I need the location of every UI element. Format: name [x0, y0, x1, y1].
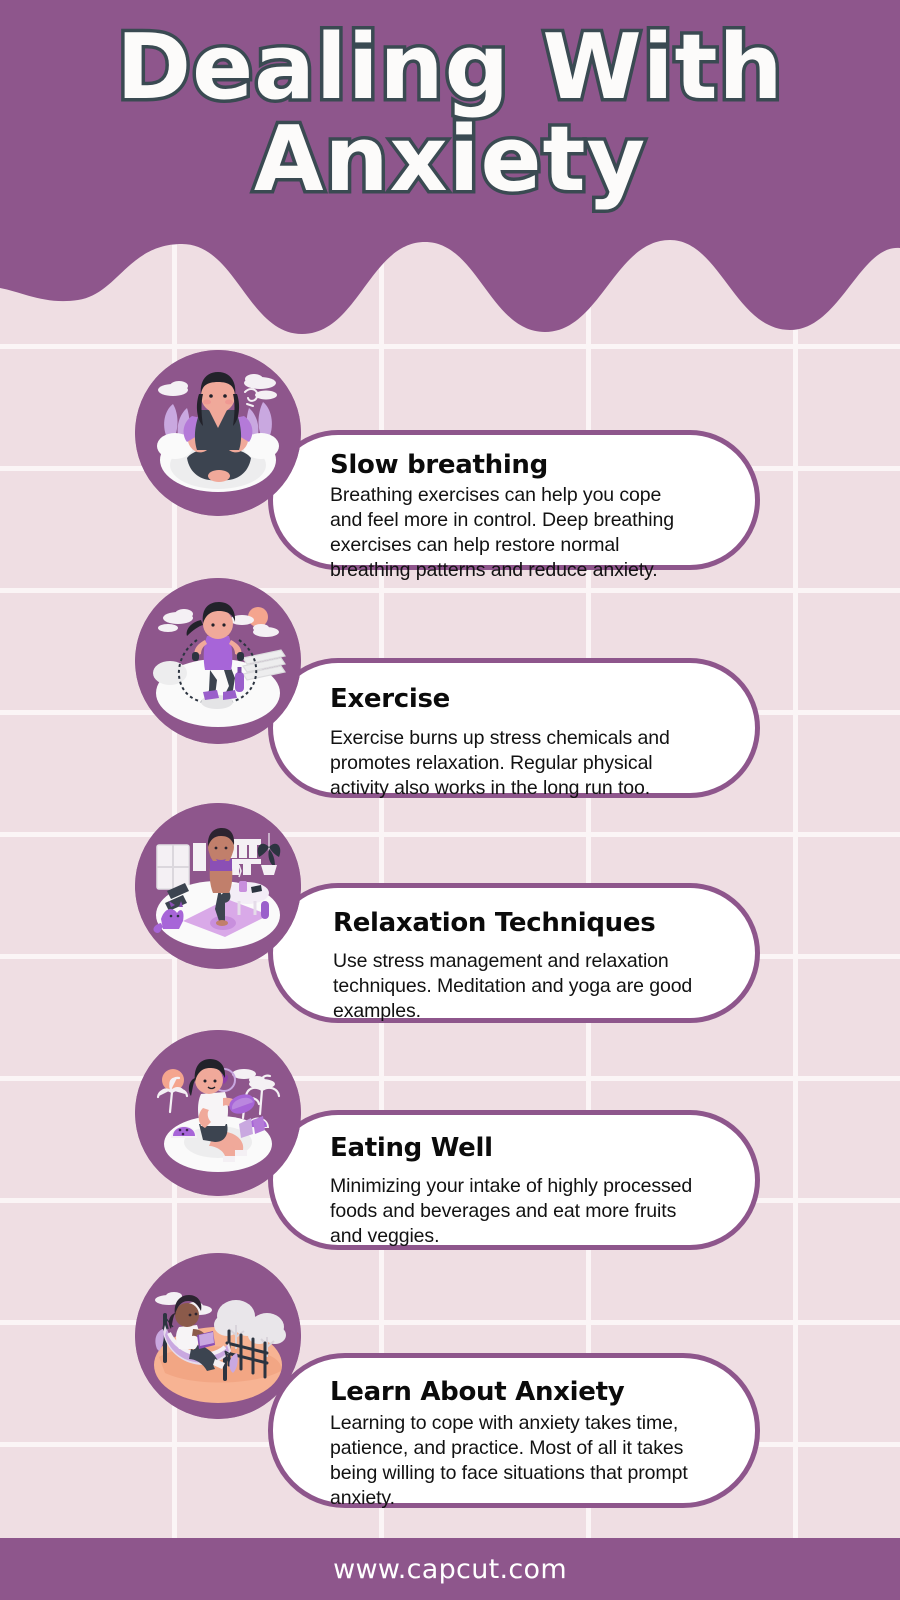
- list-item-card[interactable]: Slow breathing Breathing exercises can h…: [268, 430, 760, 570]
- list-item: Relaxation Techniques Use stress managem…: [0, 803, 900, 1003]
- woman-eating-watermelon-icon: [135, 1030, 301, 1196]
- card-body: Exercise burns up stress chemicals and p…: [330, 726, 702, 801]
- list-item-card[interactable]: Learn About Anxiety Learning to cope wit…: [268, 1353, 760, 1508]
- header-banner: Dealing With Anxiety: [0, 0, 900, 340]
- card-body: Use stress management and relaxation tec…: [333, 949, 705, 1024]
- list-item-card[interactable]: Relaxation Techniques Use stress managem…: [268, 883, 760, 1023]
- card-title: Exercise: [330, 685, 715, 715]
- page-title-line2: Anxiety: [0, 114, 900, 206]
- meditating-woman-icon: [135, 350, 301, 516]
- footer-website-link[interactable]: www.capcut.com: [333, 1554, 567, 1585]
- card-body: Breathing exercises can help you cope an…: [330, 483, 698, 583]
- jump-rope-woman-icon: [135, 578, 301, 744]
- card-title: Learn About Anxiety: [330, 1378, 715, 1408]
- list-item: Slow breathing Breathing exercises can h…: [0, 350, 900, 550]
- infographic-poster: Dealing With Anxiety: [0, 0, 900, 1600]
- page-title-line1: Dealing With: [116, 15, 783, 120]
- list-item: Eating Well Minimizing your intake of hi…: [0, 1030, 900, 1230]
- footer-bar: www.capcut.com: [0, 1538, 900, 1600]
- card-title: Eating Well: [330, 1134, 715, 1164]
- card-body: Learning to cope with anxiety takes time…: [330, 1411, 702, 1511]
- list-item-card[interactable]: Exercise Exercise burns up stress chemic…: [268, 658, 760, 798]
- card-body: Minimizing your intake of highly process…: [330, 1174, 702, 1249]
- yoga-tree-pose-woman-icon: [135, 803, 301, 969]
- list-item: Exercise Exercise burns up stress chemic…: [0, 578, 900, 778]
- page-title: Dealing With Anxiety: [0, 22, 900, 206]
- woman-reading-hammock-icon: [135, 1253, 301, 1419]
- list-item-card[interactable]: Eating Well Minimizing your intake of hi…: [268, 1110, 760, 1250]
- list-item: Learn About Anxiety Learning to cope wit…: [0, 1253, 900, 1453]
- card-title: Relaxation Techniques: [333, 909, 715, 939]
- card-title: Slow breathing: [330, 451, 715, 481]
